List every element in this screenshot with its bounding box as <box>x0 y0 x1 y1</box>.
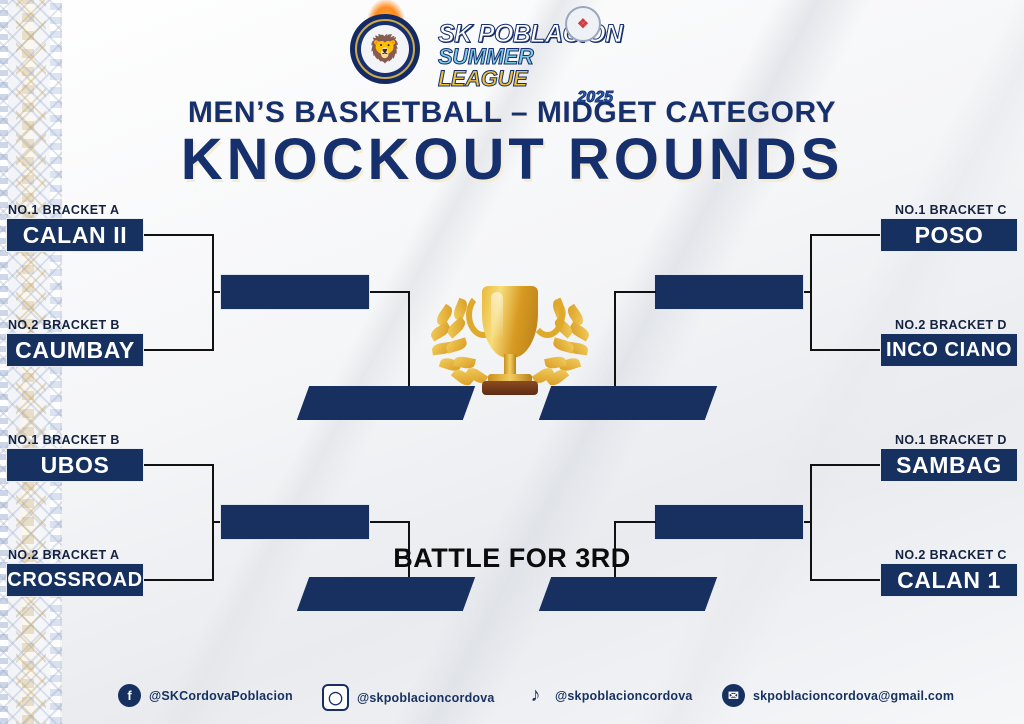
winner-slot-right-upper[interactable] <box>654 274 804 310</box>
bracket-connector <box>810 234 880 236</box>
seed-label-right-1: NO.1 BRACKET C <box>895 203 1007 217</box>
social-handle: skpoblacioncordova@gmail.com <box>753 689 954 703</box>
email-icon: ✉ <box>722 684 745 707</box>
trophy-icon <box>430 278 590 403</box>
team-slot-poso[interactable]: POSO <box>880 218 1018 252</box>
team-slot-ubos[interactable]: UBOS <box>6 448 144 482</box>
seed-label-right-2: NO.2 BRACKET D <box>895 318 1007 332</box>
third-place-slot-left[interactable] <box>297 577 475 611</box>
bracket-connector <box>614 291 656 293</box>
team-slot-calan-ii[interactable]: CALAN II <box>6 218 144 252</box>
footer-social-bar: f @SKCordovaPoblacion ◯ @skpoblacioncord… <box>0 676 1024 716</box>
social-item-facebook[interactable]: f @SKCordovaPoblacion <box>118 684 293 707</box>
third-place-slot-right[interactable] <box>539 577 717 611</box>
bracket-connector <box>810 349 880 351</box>
bracket-connector <box>370 291 410 293</box>
winner-slot-left-upper[interactable] <box>220 274 370 310</box>
social-handle: @skpoblacioncordova <box>555 689 693 703</box>
bracket-connector <box>810 464 880 466</box>
team-slot-caumbay[interactable]: CAUMBAY <box>6 333 144 367</box>
team-slot-sambag[interactable]: SAMBAG <box>880 448 1018 482</box>
bracket-connector <box>144 349 214 351</box>
team-name: INCO CIANO <box>886 339 1012 362</box>
seed-label-left-1: NO.1 BRACKET A <box>8 203 119 217</box>
lion-crest-icon: 🦁 <box>350 14 420 84</box>
team-name: POSO <box>915 222 984 249</box>
team-slot-inco-ciano[interactable]: INCO CIANO <box>880 333 1018 367</box>
wordmark-league: LEAGUE <box>438 66 527 91</box>
winner-slot-left-lower[interactable] <box>220 504 370 540</box>
instagram-icon: ◯ <box>322 684 349 711</box>
bracket-connector <box>144 579 214 581</box>
social-item-instagram[interactable]: ◯ @skpoblacioncordova <box>322 684 495 711</box>
seed-label-left-3: NO.1 BRACKET B <box>8 433 120 447</box>
battle-for-third-label: BATTLE FOR 3RD <box>0 543 1024 574</box>
seed-label-left-2: NO.2 BRACKET B <box>8 318 120 332</box>
page-subtitle: MEN’S BASKETBALL – MIDGET CATEGORY <box>0 96 1024 130</box>
bracket-connector <box>144 464 214 466</box>
team-name: SAMBAG <box>896 452 1002 479</box>
winner-slot-right-lower[interactable] <box>654 504 804 540</box>
logo-row: 🦁 SK POBLACION SUMMER LEAGUE 2025 ❖ <box>0 2 1024 90</box>
social-item-email[interactable]: ✉ skpoblacioncordova@gmail.com <box>722 684 954 707</box>
page-title: KNOCKOUT ROUNDS <box>0 126 1024 193</box>
team-name: CAUMBAY <box>15 337 135 364</box>
team-name: UBOS <box>41 452 110 479</box>
bracket-connector <box>810 579 880 581</box>
tiktok-icon: ♪ <box>524 684 547 707</box>
bracket-connector <box>370 521 410 523</box>
seed-label-right-3: NO.1 BRACKET D <box>895 433 1007 447</box>
facebook-icon: f <box>118 684 141 707</box>
bracket-connector <box>144 234 214 236</box>
bracket-connector <box>614 521 656 523</box>
social-item-tiktok[interactable]: ♪ @skpoblacioncordova <box>524 684 693 707</box>
sk-seal-icon: ❖ <box>565 6 601 42</box>
team-name: CALAN II <box>23 222 127 249</box>
social-handle: @SKCordovaPoblacion <box>149 689 293 703</box>
social-handle: @skpoblacioncordova <box>357 691 495 705</box>
tournament-bracket-poster: 🦁 SK POBLACION SUMMER LEAGUE 2025 ❖ MEN’… <box>0 0 1024 724</box>
